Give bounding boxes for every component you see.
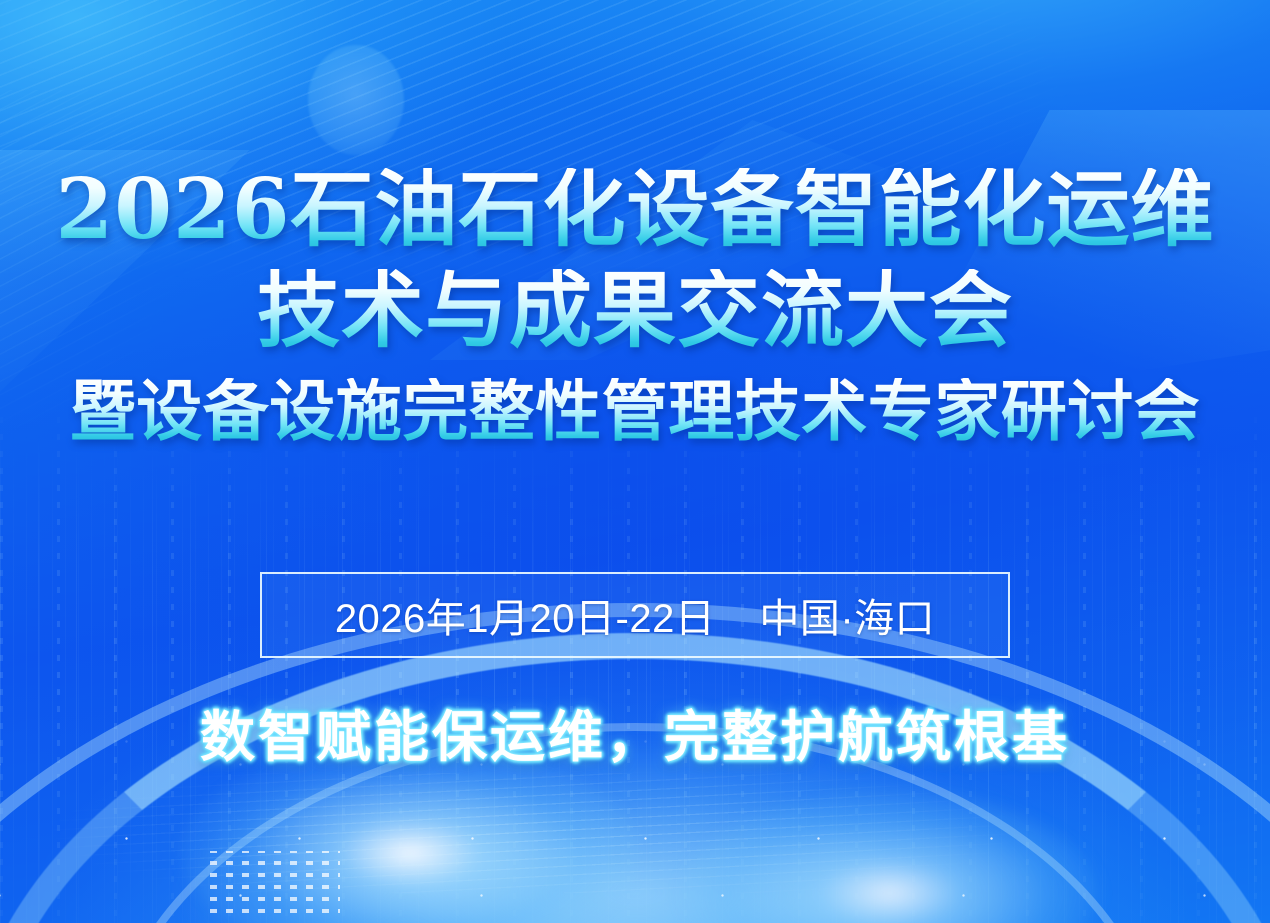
event-date: 2026年1月20日-22日	[335, 586, 716, 644]
title-line-2: 技术与成果交流大会	[0, 269, 1270, 352]
poster-content: 2026石油石化设备智能化运维 技术与成果交流大会 暨设备设施完整性管理技术专家…	[0, 0, 1270, 923]
conference-poster: 2026石油石化设备智能化运维 技术与成果交流大会 暨设备设施完整性管理技术专家…	[0, 0, 1270, 923]
event-location: 中国·海口	[759, 586, 935, 644]
title-line-1: 2026石油石化设备智能化运维	[0, 168, 1270, 251]
event-slogan: 数智赋能保运维，完整护航筑根基	[0, 692, 1270, 772]
main-title-group: 2026石油石化设备智能化运维 技术与成果交流大会 暨设备设施完整性管理技术专家…	[0, 168, 1270, 444]
title-line-3-subtitle: 暨设备设施完整性管理技术专家研讨会	[0, 378, 1270, 444]
date-location-box: 2026年1月20日-22日 中国·海口	[260, 572, 1010, 658]
